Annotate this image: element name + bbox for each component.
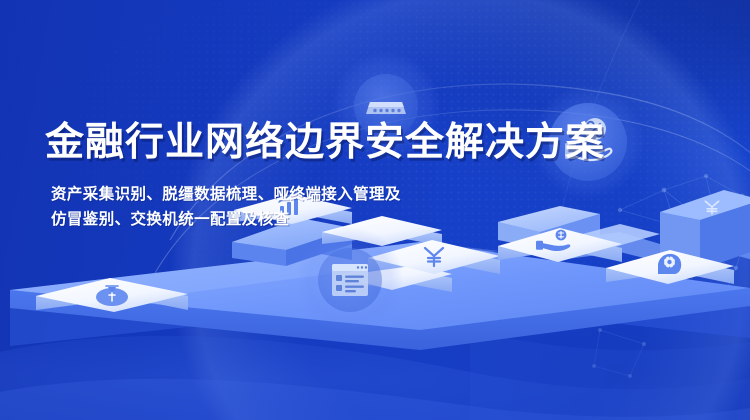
banner-root: 金融行业网络边界安全解决方案 资产采集识别、脱缰数据梳理、哑终端接入管理及 仿冒… [0,0,750,420]
copy-block: 金融行业网络边界安全解决方案 资产采集识别、脱缰数据梳理、哑终端接入管理及 仿冒… [45,118,605,232]
page-subtitle: 资产采集识别、脱缰数据梳理、哑终端接入管理及 仿冒鉴别、交换机统一配置及核查 [51,182,605,232]
subtitle-line-1: 资产采集识别、脱缰数据梳理、哑终端接入管理及 [51,182,605,207]
badge-document-checklist[interactable] [297,227,403,333]
subtitle-line-2: 仿冒鉴别、交换机统一配置及核查 [51,207,605,232]
page-title: 金融行业网络边界安全解决方案 [45,118,605,168]
document-checklist-icon [325,255,375,305]
